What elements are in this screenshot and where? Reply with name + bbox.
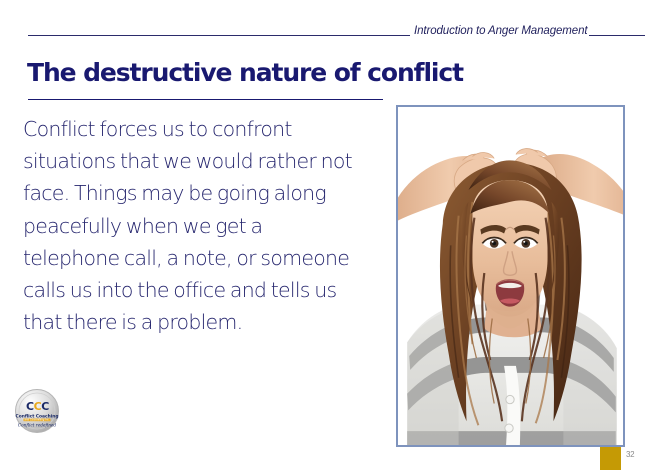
slide: Introduction to Anger Management The des…: [0, 0, 645, 470]
header-rule-left: [28, 35, 410, 36]
svg-text:Conflict redefined: Conflict redefined: [18, 423, 57, 428]
header-title: Introduction to Anger Management: [414, 22, 587, 40]
photo-frame: [396, 105, 625, 447]
page-number: 32: [626, 450, 634, 459]
header-rule-right: [589, 35, 645, 36]
conflict-coaching-logo[interactable]: C C C Conflict Coaching and Counselling …: [9, 387, 65, 435]
body-paragraph: Conflict forces us to confront situation…: [23, 113, 363, 338]
slide-header: Introduction to Anger Management: [0, 22, 645, 42]
svg-text:C: C: [41, 400, 49, 413]
page-title: The destructive nature of conflict: [27, 58, 463, 88]
gold-accent-block: [600, 447, 621, 470]
title-divider: [28, 99, 383, 100]
logo-badge-icon: C C C Conflict Coaching and Counselling …: [9, 387, 65, 435]
svg-text:and Counselling Inc.: and Counselling Inc.: [24, 418, 50, 422]
frustrated-woman-photo: [398, 107, 623, 445]
